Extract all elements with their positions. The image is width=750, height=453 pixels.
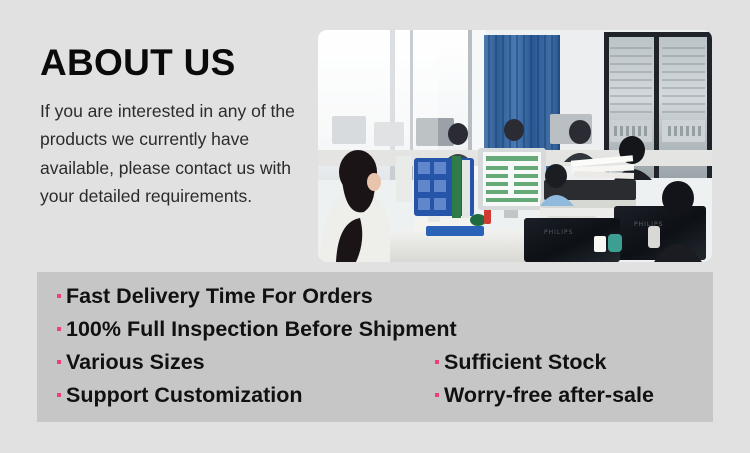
feature-item: Various Sizes xyxy=(57,352,205,374)
feature-item: Fast Delivery Time For Orders xyxy=(57,286,373,308)
feature-label: Support Customization xyxy=(66,385,302,407)
feature-label: 100% Full Inspection Before Shipment xyxy=(66,319,457,341)
about-paragraph: If you are interested in any of the prod… xyxy=(40,97,315,210)
svg-text:PHILIPS: PHILIPS xyxy=(544,229,573,236)
bullet-dot-icon xyxy=(57,393,61,397)
bullet-dot-icon xyxy=(57,327,61,331)
feature-label: Sufficient Stock xyxy=(444,352,606,374)
feature-label: Various Sizes xyxy=(66,352,205,374)
feature-label: Fast Delivery Time For Orders xyxy=(66,286,373,308)
feature-item: Support Customization xyxy=(57,385,302,407)
office-photo-illustration: PHILIPS PHILIPS xyxy=(318,30,712,262)
feature-item: Sufficient Stock xyxy=(435,352,606,374)
bullet-dot-icon xyxy=(57,360,61,364)
bullet-dot-icon xyxy=(57,294,61,298)
features-panel: Fast Delivery Time For Orders 100% Full … xyxy=(37,272,713,422)
feature-item: Worry-free after-sale xyxy=(435,385,654,407)
feature-item: 100% Full Inspection Before Shipment xyxy=(57,319,457,341)
about-us-banner: ABOUT US If you are interested in any of… xyxy=(0,0,750,453)
features-list: Fast Delivery Time For Orders 100% Full … xyxy=(37,272,713,422)
bullet-dot-icon xyxy=(435,360,439,364)
feature-label: Worry-free after-sale xyxy=(444,385,654,407)
about-section: ABOUT US If you are interested in any of… xyxy=(40,44,315,210)
office-photo: PHILIPS PHILIPS xyxy=(318,30,712,262)
page-title: ABOUT US xyxy=(40,44,315,83)
bullet-dot-icon xyxy=(435,393,439,397)
